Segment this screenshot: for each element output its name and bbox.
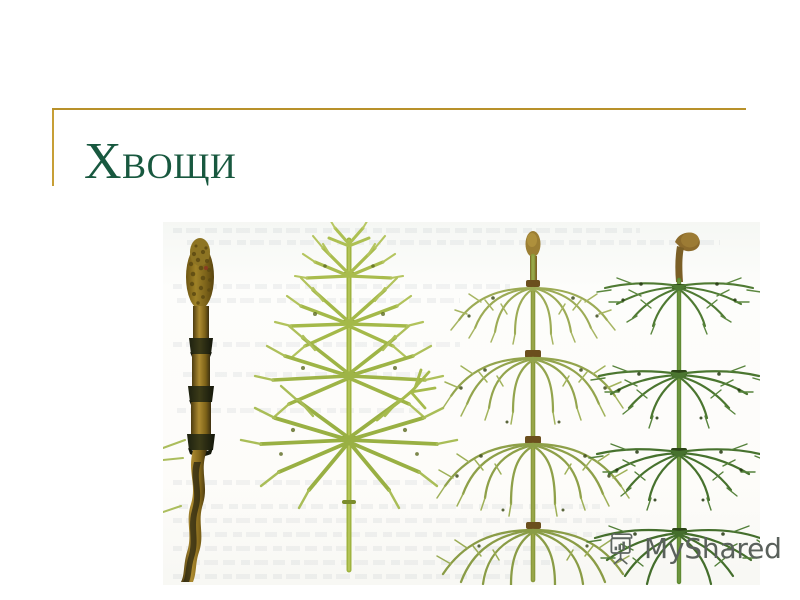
figure-spore-bearing-shoot [181,238,215,582]
page-title: Хвощи [84,136,236,188]
figure-drooping-whorl-shoot [437,231,629,585]
figure-vegetative-shoot [241,222,457,570]
horsetail-illustration [163,222,760,585]
title-rule-horizontal [52,108,746,110]
title-rule-vertical [52,110,54,186]
myshared-watermark: MyShared [607,533,782,565]
presentation-board-icon [607,533,637,565]
watermark-label: MyShared [644,535,782,563]
slide-canvas: Хвощи [0,0,800,600]
botanical-plate-drawing [163,222,760,585]
edge-branch-fragments [163,440,185,512]
